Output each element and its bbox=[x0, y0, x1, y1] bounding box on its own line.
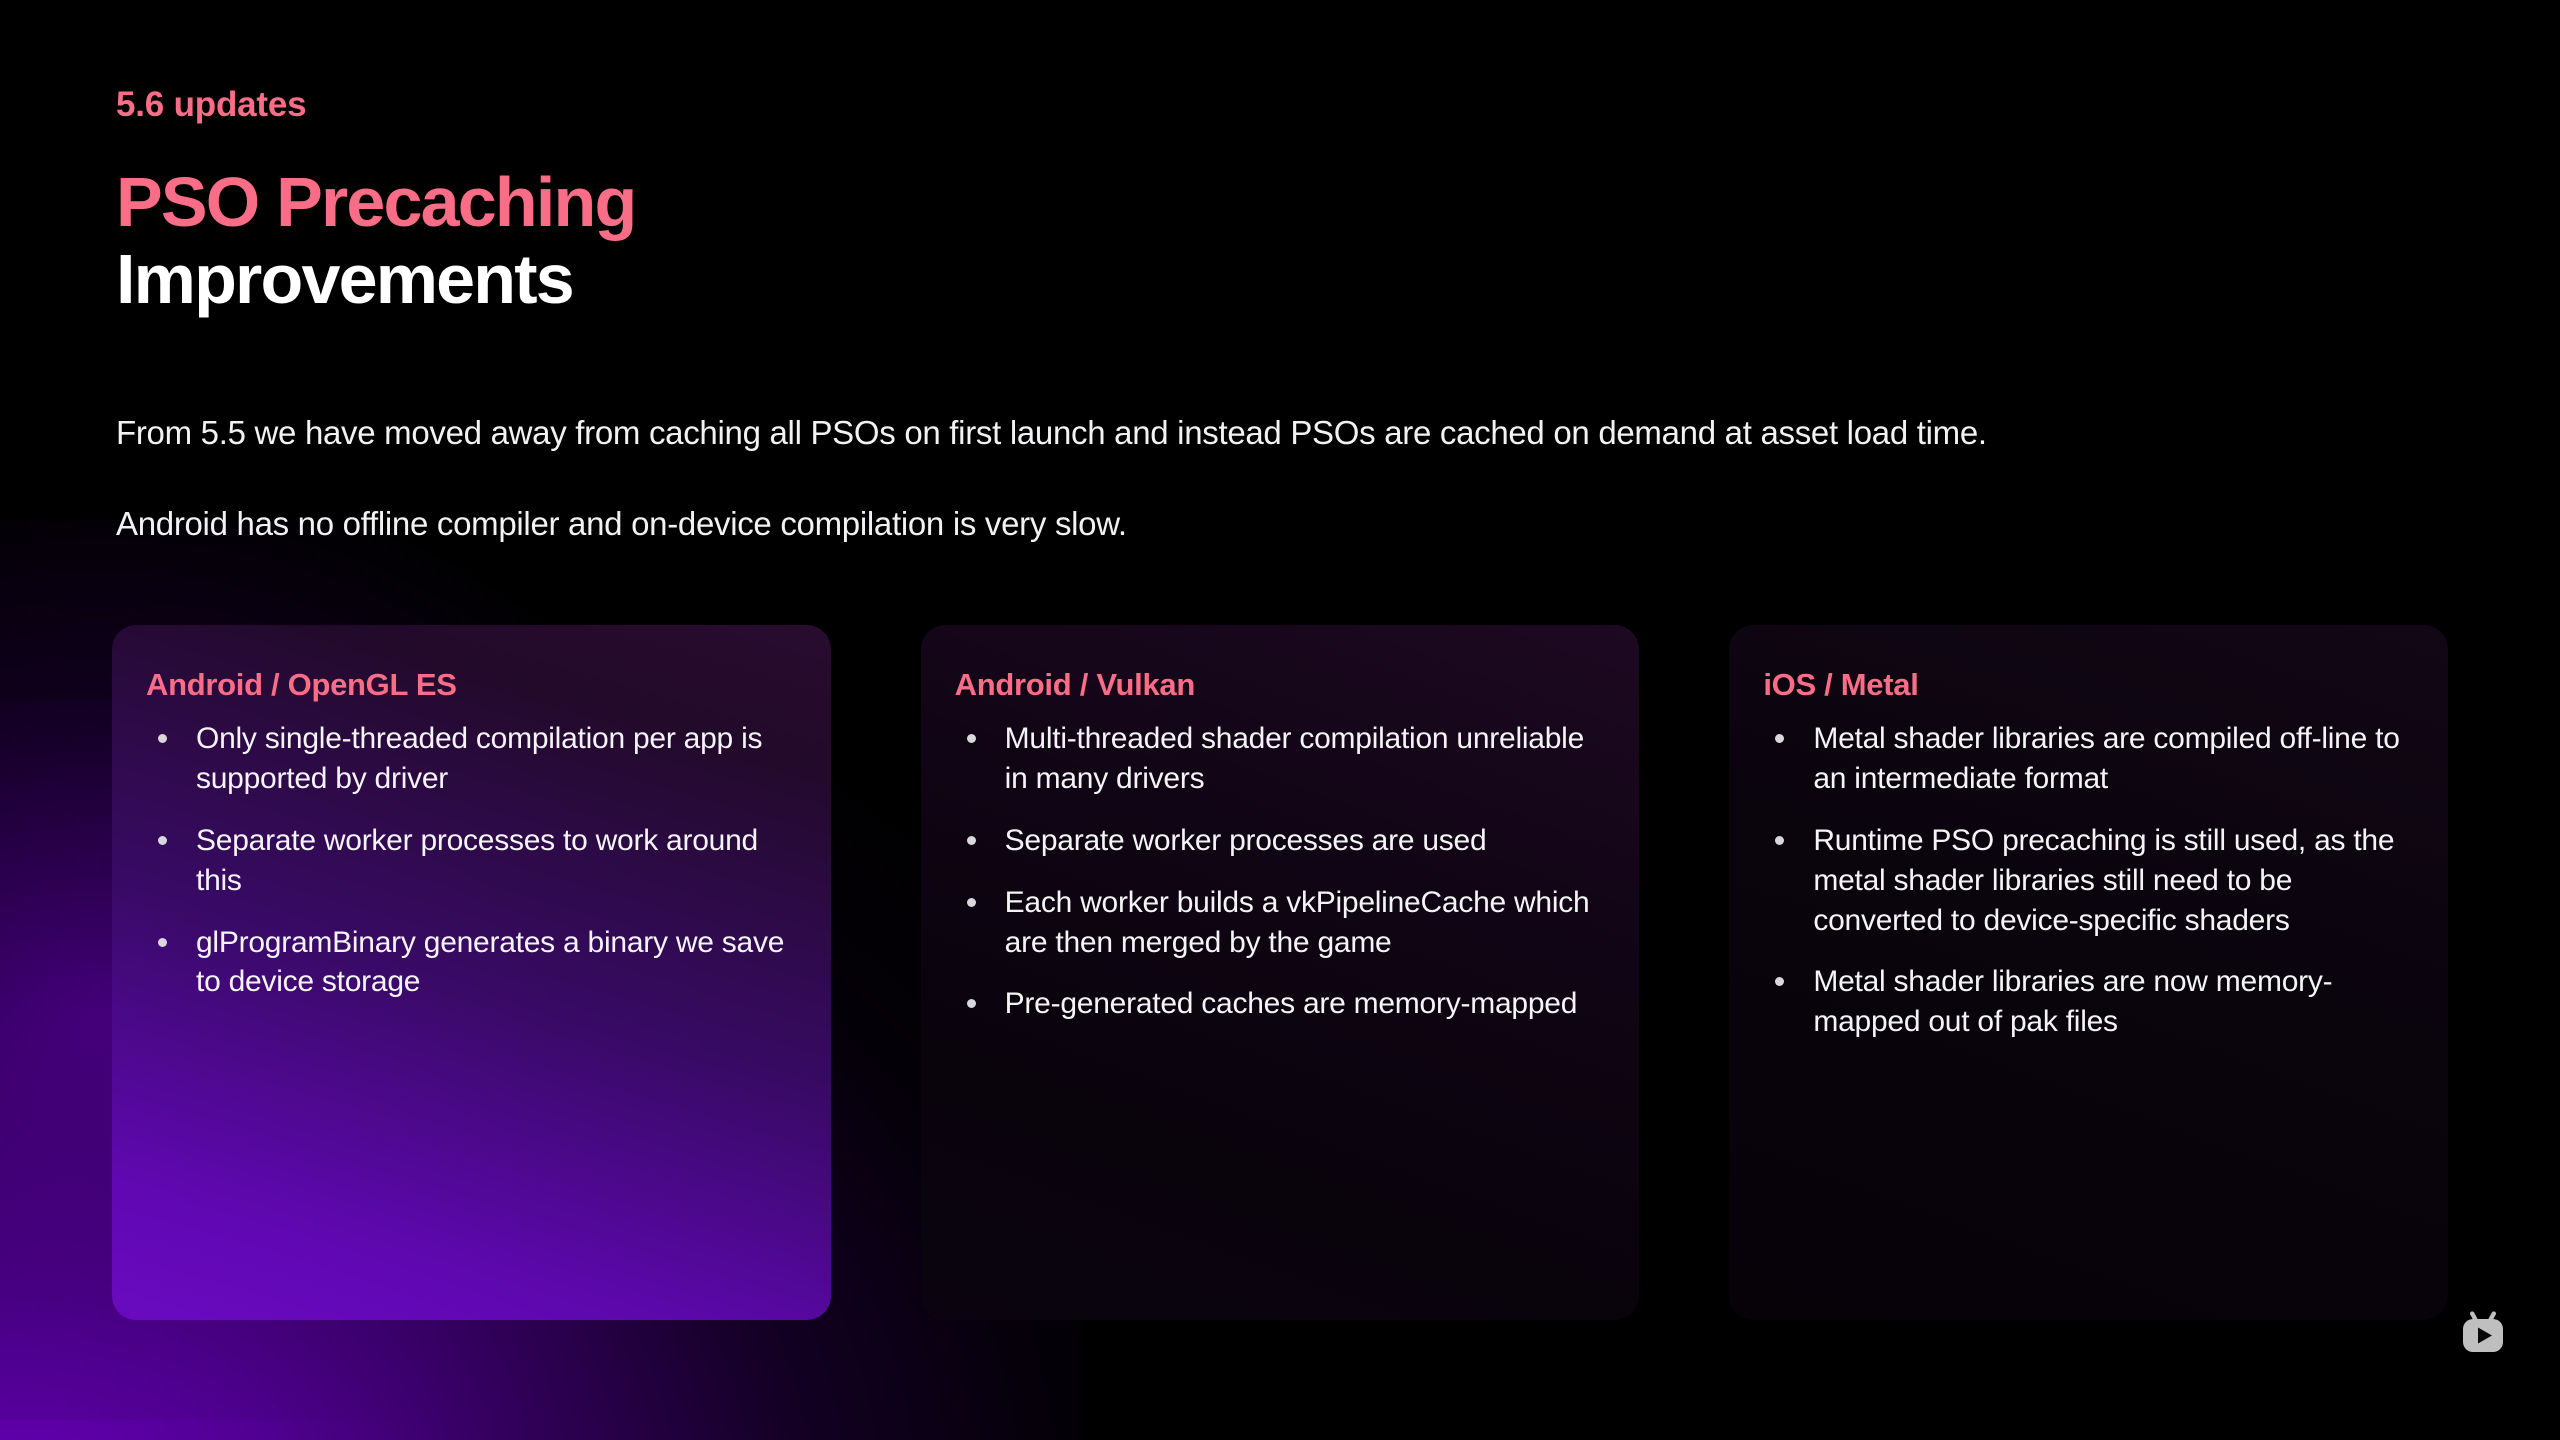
card-title-android-opengl-es: Android / OpenGL ES bbox=[146, 667, 795, 703]
list-item-text: Each worker builds a vkPipelineCache whi… bbox=[1005, 886, 1590, 959]
page-title-line-1: PSO Precaching bbox=[116, 167, 635, 238]
platform-cards-row: Android / OpenGL ES Only single-threaded… bbox=[112, 625, 2448, 1320]
card-android-vulkan: Android / Vulkan Multi-threaded shader c… bbox=[921, 625, 1640, 1320]
bullet-dot-icon bbox=[1775, 977, 1784, 986]
bullet-dot-icon bbox=[1775, 836, 1784, 845]
list-item-text: Only single-threaded compilation per app… bbox=[196, 722, 762, 795]
bullet-dot-icon bbox=[967, 734, 976, 743]
bullet-list-android-vulkan: Multi-threaded shader compilation unreli… bbox=[951, 719, 1604, 1024]
list-item-text: Multi-threaded shader compilation unreli… bbox=[1005, 722, 1584, 795]
card-title-ios-metal: iOS / Metal bbox=[1763, 667, 2412, 703]
list-item-text: Pre-generated caches are memory-mapped bbox=[1005, 987, 1577, 1020]
slide: 5.6 updates PSO Precaching Improvements … bbox=[0, 0, 2560, 1440]
card-ios-metal: iOS / Metal Metal shader libraries are c… bbox=[1729, 625, 2448, 1320]
list-item: Each worker builds a vkPipelineCache whi… bbox=[951, 883, 1604, 963]
card-title-android-vulkan: Android / Vulkan bbox=[955, 667, 1604, 703]
bullet-dot-icon bbox=[158, 938, 167, 947]
list-item: Pre-generated caches are memory-mapped bbox=[951, 984, 1604, 1024]
list-item: Only single-threaded compilation per app… bbox=[142, 719, 795, 799]
intro-paragraph-1: From 5.5 we have moved away from caching… bbox=[116, 410, 2116, 457]
list-item-text: Metal shader libraries are now memory-ma… bbox=[1813, 965, 2332, 1038]
list-item: Metal shader libraries are compiled off-… bbox=[1759, 719, 2412, 799]
list-item-text: glProgramBinary generates a binary we sa… bbox=[196, 926, 784, 999]
list-item: Runtime PSO precaching is still used, as… bbox=[1759, 821, 2412, 941]
card-android-opengl-es: Android / OpenGL ES Only single-threaded… bbox=[112, 625, 831, 1320]
bullet-dot-icon bbox=[967, 898, 976, 907]
bullet-dot-icon bbox=[1775, 734, 1784, 743]
list-item-text: Separate worker processes to work around… bbox=[196, 824, 758, 897]
list-item: Separate worker processes are used bbox=[951, 821, 1604, 861]
slide-header: 5.6 updates PSO Precaching Improvements bbox=[116, 86, 635, 315]
intro-text-block: From 5.5 we have moved away from caching… bbox=[116, 410, 2116, 548]
bullet-dot-icon bbox=[158, 836, 167, 845]
bullet-list-ios-metal: Metal shader libraries are compiled off-… bbox=[1759, 719, 2412, 1042]
list-item: Multi-threaded shader compilation unreli… bbox=[951, 719, 1604, 799]
intro-paragraph-2: Android has no offline compiler and on-d… bbox=[116, 501, 2116, 548]
youtube-tv-play-icon bbox=[2456, 1310, 2518, 1364]
bullet-dot-icon bbox=[158, 734, 167, 743]
page-title: PSO Precaching Improvements bbox=[116, 167, 635, 316]
page-title-line-2: Improvements bbox=[116, 244, 635, 315]
bullet-dot-icon bbox=[967, 999, 976, 1008]
bullet-dot-icon bbox=[967, 836, 976, 845]
list-item-text: Metal shader libraries are compiled off-… bbox=[1813, 722, 2399, 795]
list-item: glProgramBinary generates a binary we sa… bbox=[142, 923, 795, 1003]
list-item-text: Separate worker processes are used bbox=[1005, 824, 1487, 857]
list-item: Metal shader libraries are now memory-ma… bbox=[1759, 962, 2412, 1042]
eyebrow-label: 5.6 updates bbox=[116, 86, 635, 125]
list-item-text: Runtime PSO precaching is still used, as… bbox=[1813, 824, 2394, 937]
bullet-list-android-opengl-es: Only single-threaded compilation per app… bbox=[142, 719, 795, 1002]
list-item: Separate worker processes to work around… bbox=[142, 821, 795, 901]
